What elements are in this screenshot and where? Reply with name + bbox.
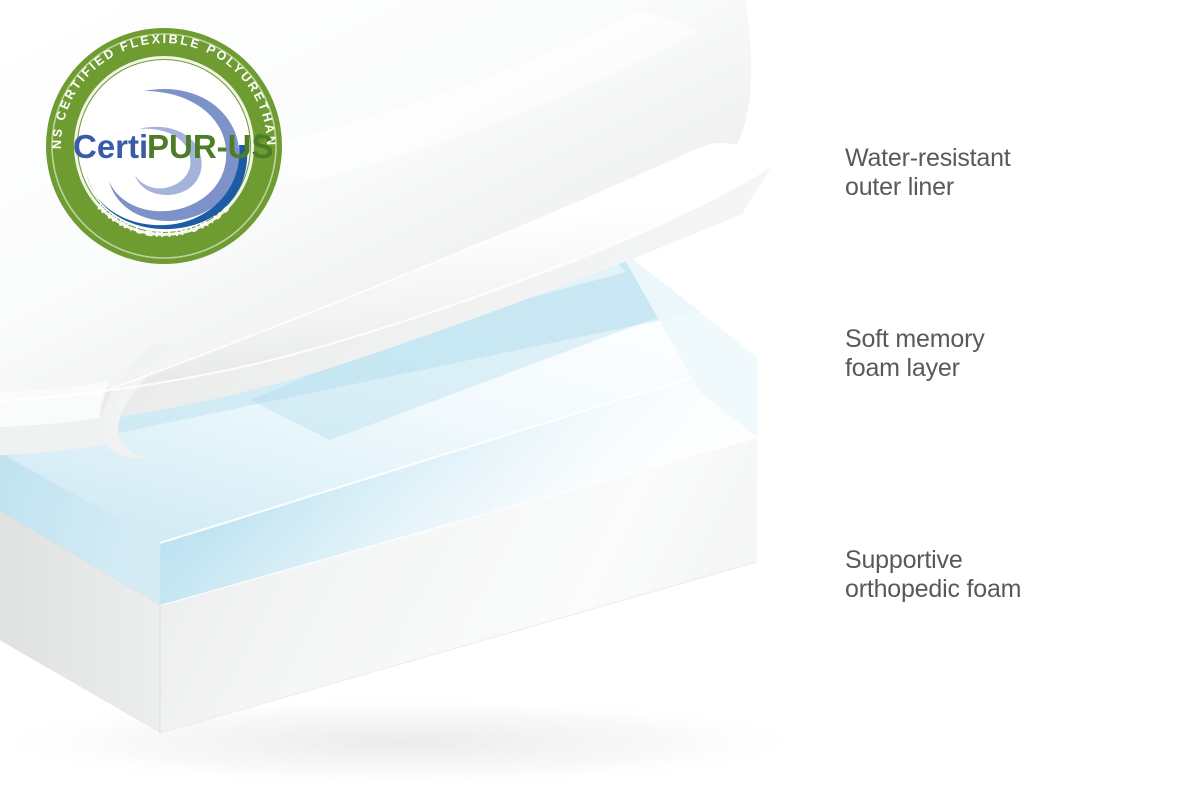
callout-1-line-2: outer liner [845,173,1011,202]
product-diagram-stage: CONTAINS CERTIFIED FLEXIBLE POLYURETHANE… [0,0,1200,800]
mattress-cutaway-illustration: CONTAINS CERTIFIED FLEXIBLE POLYURETHANE… [0,0,1200,800]
badge-wordmark: Certi PUR-US ® [73,128,274,165]
callout-2-line-2: foam layer [845,354,985,383]
callout-supportive-orthopedic-foam: Supportive orthopedic foam [845,546,1021,604]
badge-wordmark-certi: Certi [73,128,148,165]
badge-registered-mark: ® [255,131,264,145]
callout-soft-memory-foam-layer: Soft memory foam layer [845,325,985,383]
callout-1-line-1: Water-resistant [845,144,1011,172]
callout-3-line-2: orthopedic foam [845,575,1021,604]
callout-2-line-1: Soft memory [845,325,985,353]
callout-3-line-1: Supportive [845,546,963,574]
callout-water-resistant-outer-liner: Water-resistant outer liner [845,144,1011,202]
